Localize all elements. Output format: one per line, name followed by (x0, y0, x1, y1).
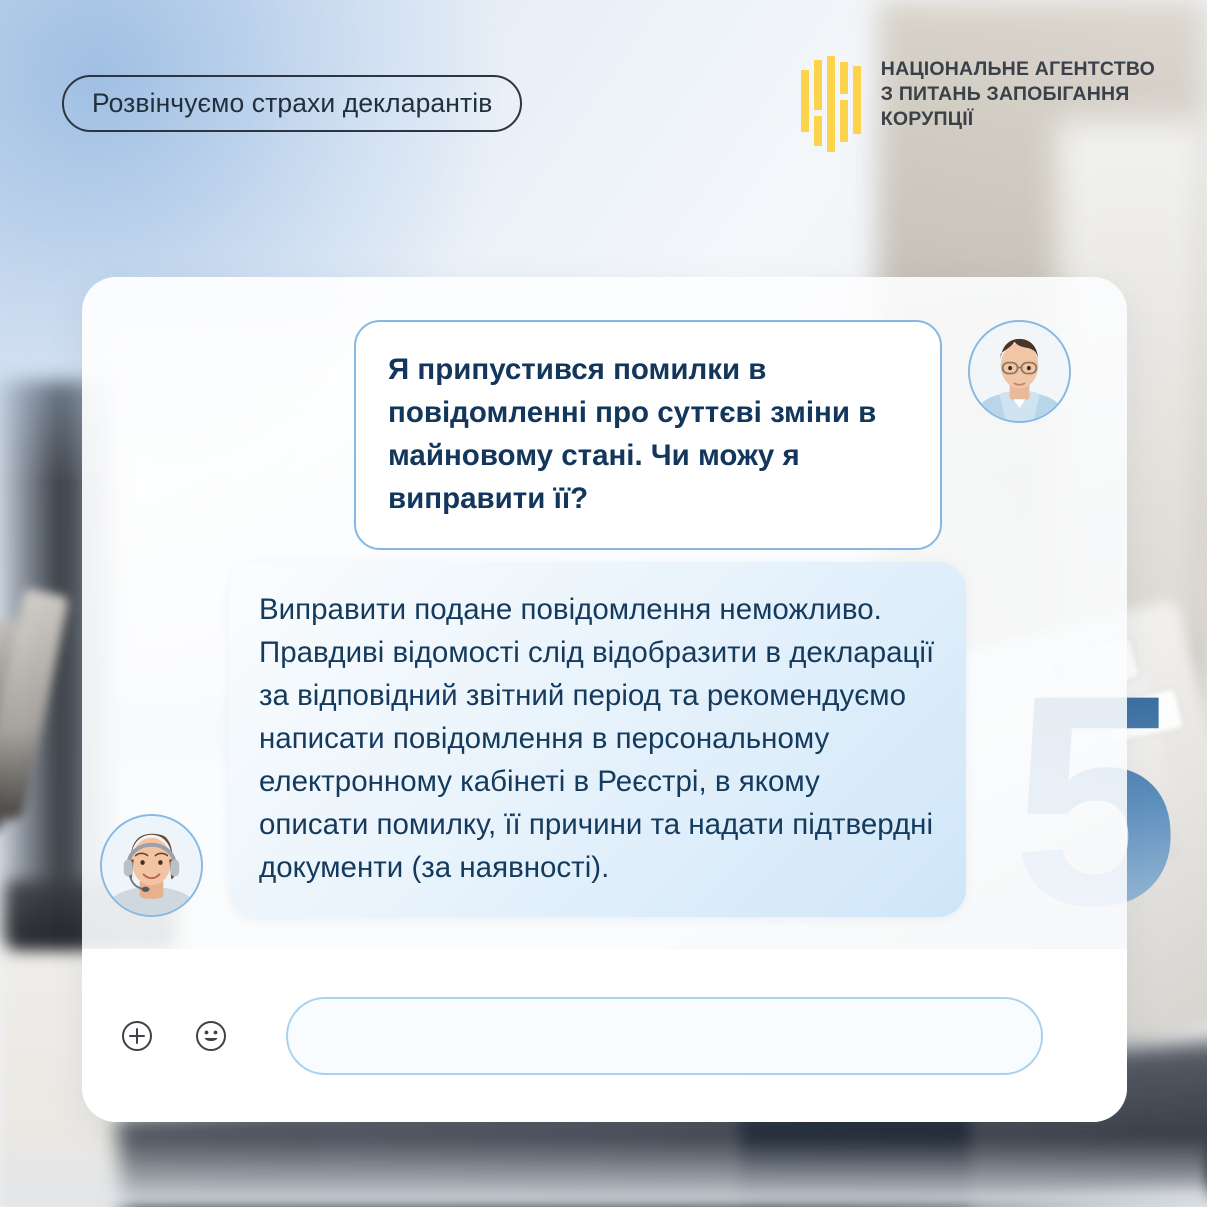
plus-circle-icon[interactable] (120, 1019, 154, 1053)
smiley-face-icon[interactable] (194, 1019, 228, 1053)
page-title: Розвінчуємо страхи декларантів (92, 88, 492, 119)
message-bubble-question: Я припустився помилки в повідомленні про… (354, 320, 942, 550)
nazk-logo-text: НАЦІОНАЛЬНЕ АГЕНТСТВО З ПИТАНЬ ЗАПОБІГАН… (881, 52, 1155, 132)
logo-line-1: НАЦІОНАЛЬНЕ АГЕНТСТВО (881, 57, 1155, 82)
message-input[interactable] (286, 997, 1043, 1075)
background-bottom-fade (0, 1137, 1207, 1207)
message-text-answer: Виправити подане повідомлення неможливо.… (259, 588, 936, 889)
logo-line-3: КОРУПЦІЇ (881, 107, 1155, 132)
page-title-badge: Розвінчуємо страхи декларантів (62, 75, 522, 132)
poster-root: Розвінчуємо страхи декларантів НАЦІОНАЛЬ… (0, 0, 1207, 1207)
avatar-illustration-man (970, 322, 1069, 421)
chat-message-list: Я припустився помилки в повідомленні про… (82, 277, 1127, 949)
message-bubble-answer: Виправити подане повідомлення неможливо.… (229, 562, 966, 917)
nazk-logo: НАЦІОНАЛЬНЕ АГЕНТСТВО З ПИТАНЬ ЗАПОБІГАН… (801, 52, 1155, 152)
chat-input-bar (82, 949, 1127, 1122)
man-with-glasses-avatar (968, 320, 1071, 423)
woman-with-headset-avatar (100, 814, 203, 917)
chat-message-declarant: Я припустився помилки в повідомленні про… (354, 320, 1071, 550)
chat-panel: Я припустився помилки в повідомленні про… (82, 277, 1127, 1122)
avatar-illustration-operator (102, 816, 201, 915)
nazk-bars-icon (801, 52, 863, 152)
chat-message-support: Виправити подане повідомлення неможливо.… (100, 562, 966, 917)
logo-line-2: З ПИТАНЬ ЗАПОБІГАННЯ (881, 82, 1155, 107)
header: Розвінчуємо страхи декларантів НАЦІОНАЛЬ… (0, 0, 1207, 190)
message-text-question: Я припустився помилки в повідомленні про… (388, 348, 908, 520)
